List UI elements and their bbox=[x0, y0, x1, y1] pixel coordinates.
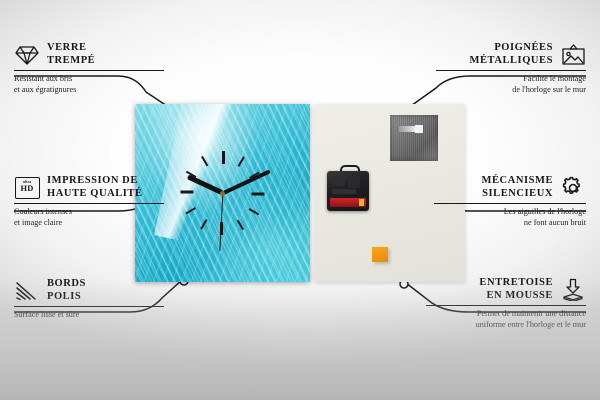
callout-title: BORDS POLIS bbox=[47, 278, 86, 303]
callout-header: POIGNÉES MÉTALLIQUES bbox=[426, 42, 586, 67]
callout-title: ENTRETOISE EN MOUSSE bbox=[479, 277, 553, 302]
callout-header: BORDS POLIS bbox=[14, 278, 179, 303]
callout-subtitle: Surface lisse et sûre bbox=[14, 310, 179, 321]
infographic-canvas: VERRE TREMPÉ Résistant aux bris et aux é… bbox=[0, 0, 600, 400]
callout-subtitle: Couleurs intenses et image claire bbox=[14, 207, 184, 228]
arrow-down-layers-icon bbox=[560, 278, 586, 302]
metal-hanger-plate bbox=[390, 115, 438, 161]
callout-rule bbox=[14, 203, 164, 204]
callout-subtitle: Les aiguilles de l'horloge ne font aucun… bbox=[416, 207, 586, 228]
ultra-hd-icon: ultra HD bbox=[14, 176, 40, 200]
callout-rule bbox=[426, 305, 586, 306]
callout-rule bbox=[436, 70, 586, 71]
callout-impression-haute-qualite: ultra HD IMPRESSION DE HAUTE QUALITÉ Cou… bbox=[14, 175, 184, 228]
picture-frame-icon bbox=[560, 43, 586, 67]
callout-title: IMPRESSION DE HAUTE QUALITÉ bbox=[47, 175, 143, 200]
callout-header: ENTRETOISE EN MOUSSE bbox=[416, 277, 586, 302]
hanger-slot bbox=[399, 126, 423, 132]
callout-title: VERRE TREMPÉ bbox=[47, 42, 95, 67]
callout-rule bbox=[14, 70, 164, 71]
callout-poignees-metalliques: POIGNÉES MÉTALLIQUES Facilite le montage… bbox=[426, 42, 586, 95]
polished-edges-icon bbox=[14, 279, 40, 303]
callout-header: MÉCANISME SILENCIEUX bbox=[416, 175, 586, 200]
callout-rule bbox=[14, 306, 164, 307]
callout-rule bbox=[434, 203, 586, 204]
gear-icon bbox=[560, 176, 586, 200]
callout-subtitle: Permet de maintenir une distance uniform… bbox=[416, 309, 586, 330]
mechanism-detail bbox=[348, 176, 360, 188]
callout-verre-trempe: VERRE TREMPÉ Résistant aux bris et aux é… bbox=[14, 42, 174, 95]
callout-title: POIGNÉES MÉTALLIQUES bbox=[470, 42, 553, 67]
mechanism-detail bbox=[332, 189, 356, 194]
callout-entretoise-en-mousse: ENTRETOISE EN MOUSSE Permet de maintenir… bbox=[416, 277, 586, 330]
callout-mecanisme-silencieux: MÉCANISME SILENCIEUX Les aiguilles de l'… bbox=[416, 175, 586, 228]
callout-subtitle: Facilite le montage de l'horloge sur le … bbox=[426, 74, 586, 95]
mechanism-detail bbox=[332, 177, 345, 186]
callout-header: VERRE TREMPÉ bbox=[14, 42, 174, 67]
diamond-icon bbox=[14, 43, 40, 67]
callout-subtitle: Résistant aux bris et aux égratignures bbox=[14, 74, 174, 95]
callout-title: MÉCANISME SILENCIEUX bbox=[482, 175, 553, 200]
callout-header: ultra HD IMPRESSION DE HAUTE QUALITÉ bbox=[14, 175, 184, 200]
clock-center-hub bbox=[220, 191, 225, 196]
clock-mechanism bbox=[327, 171, 369, 211]
battery bbox=[330, 198, 366, 207]
foam-spacer bbox=[372, 247, 388, 262]
callout-bords-polis: BORDS POLIS Surface lisse et sûre bbox=[14, 278, 179, 321]
